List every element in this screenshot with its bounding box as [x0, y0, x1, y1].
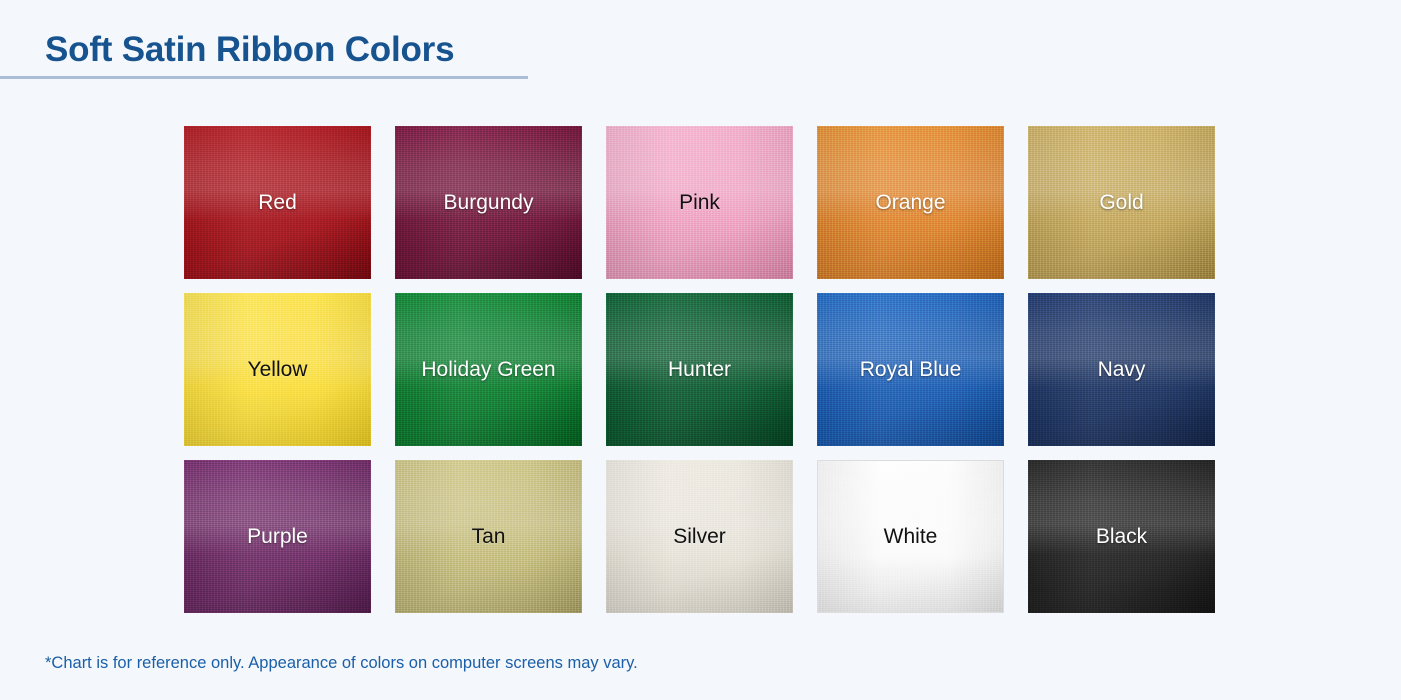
color-swatch-grid: RedBurgundyPinkOrangeGoldYellowHoliday G… — [184, 126, 1218, 613]
color-swatch[interactable]: Orange — [817, 126, 1004, 279]
swatch-label: Orange — [869, 190, 951, 216]
color-swatch[interactable]: Navy — [1028, 293, 1215, 446]
color-swatch[interactable]: Pink — [606, 126, 793, 279]
color-swatch[interactable]: Royal Blue — [817, 293, 1004, 446]
swatch-label: Royal Blue — [854, 357, 968, 383]
disclaimer-footnote: *Chart is for reference only. Appearance… — [45, 652, 638, 674]
swatch-label: White — [878, 524, 944, 550]
color-swatch[interactable]: Burgundy — [395, 126, 582, 279]
swatch-label: Yellow — [242, 357, 314, 383]
swatch-label: Silver — [667, 524, 732, 550]
swatch-label: Hunter — [662, 357, 737, 383]
color-swatch[interactable]: Purple — [184, 460, 371, 613]
color-swatch[interactable]: Holiday Green — [395, 293, 582, 446]
title-divider — [0, 76, 528, 79]
swatch-label: Holiday Green — [415, 357, 561, 383]
swatch-label: Tan — [466, 524, 512, 550]
swatch-label: Gold — [1093, 190, 1149, 216]
color-swatch[interactable]: Tan — [395, 460, 582, 613]
color-swatch[interactable]: Hunter — [606, 293, 793, 446]
swatch-label: Purple — [241, 524, 314, 550]
color-swatch[interactable]: Red — [184, 126, 371, 279]
color-swatch[interactable]: Yellow — [184, 293, 371, 446]
swatch-label: Pink — [673, 190, 726, 216]
page-header: Soft Satin Ribbon Colors — [0, 0, 1401, 82]
page-title: Soft Satin Ribbon Colors — [45, 29, 454, 71]
color-swatch[interactable]: Silver — [606, 460, 793, 613]
color-swatch[interactable]: Gold — [1028, 126, 1215, 279]
swatch-label: Navy — [1092, 357, 1152, 383]
swatch-label: Red — [252, 190, 303, 216]
swatch-label: Burgundy — [438, 190, 540, 216]
color-swatch[interactable]: White — [817, 460, 1004, 613]
swatch-label: Black — [1090, 524, 1153, 550]
color-swatch[interactable]: Black — [1028, 460, 1215, 613]
